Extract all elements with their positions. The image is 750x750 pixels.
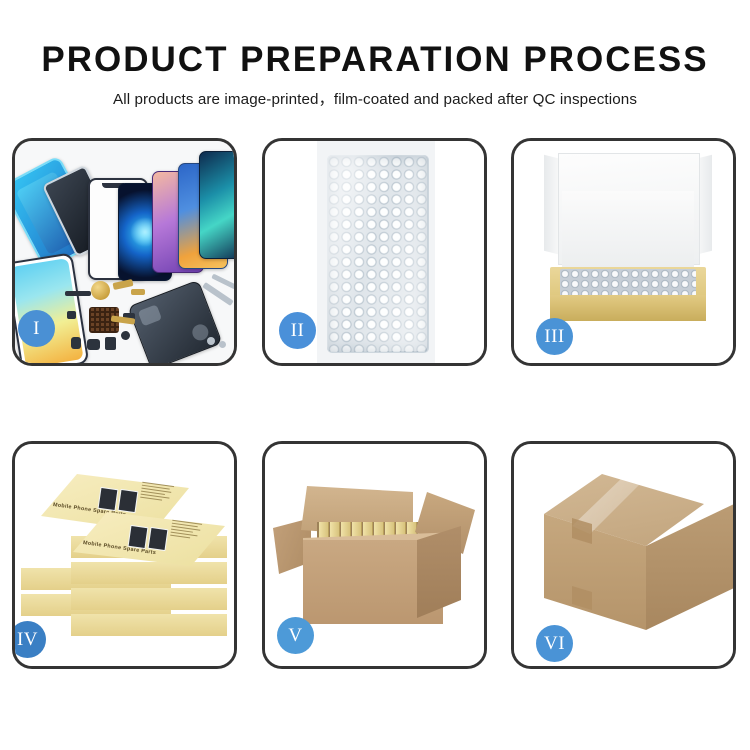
small-part — [67, 311, 76, 319]
kraft-box-front-wall — [550, 295, 706, 321]
process-step-2: II — [262, 138, 487, 366]
stacked-boxes-photo: Mobile Phone Spare Parts Mobile Phone Sp… — [15, 444, 234, 666]
header: PRODUCT PREPARATION PROCESS All products… — [0, 0, 750, 110]
screw — [219, 341, 226, 348]
page-subtitle: All products are image-printed，film-coat… — [0, 80, 750, 110]
stacked-box — [71, 588, 227, 610]
screw — [207, 337, 215, 345]
repair-tool — [211, 274, 234, 290]
step-badge-1: I — [18, 310, 55, 347]
small-part — [121, 331, 130, 340]
plastic-sheen — [327, 155, 427, 351]
product-preparation-infographic: PRODUCT PREPARATION PROCESS All products… — [0, 0, 750, 750]
small-part — [105, 337, 116, 350]
process-step-6: VI — [511, 441, 736, 669]
flex-cable — [131, 289, 145, 295]
carton-side-face — [417, 526, 461, 618]
process-step-4: Mobile Phone Spare Parts Mobile Phone Sp… — [12, 441, 237, 669]
process-row-bottom: Mobile Phone Spare Parts Mobile Phone Sp… — [12, 441, 738, 669]
step-badge-6: VI — [536, 625, 573, 662]
step-badge-5: V — [277, 617, 314, 654]
box-print-screen — [148, 527, 169, 551]
process-step-5: V — [262, 441, 487, 669]
small-part — [87, 339, 100, 350]
flex-cable — [112, 279, 133, 290]
stacked-box — [71, 562, 227, 584]
small-part — [65, 291, 91, 296]
process-row-top: I II — [12, 138, 738, 366]
process-step-1: I — [12, 138, 237, 366]
teal-gradient-phone — [199, 151, 234, 259]
gold-component — [91, 281, 110, 300]
box-print-screen — [128, 525, 149, 549]
box-print-screen — [118, 489, 139, 513]
small-part — [71, 337, 81, 349]
foam-liner — [562, 191, 694, 269]
process-step-grid: I II — [12, 138, 738, 744]
stacked-box — [71, 614, 227, 636]
box-print-screen — [98, 487, 119, 511]
process-step-3: III — [511, 138, 736, 366]
page-title: PRODUCT PREPARATION PROCESS — [0, 0, 750, 80]
step-badge-3: III — [536, 318, 573, 355]
step-badge-2: II — [279, 312, 316, 349]
